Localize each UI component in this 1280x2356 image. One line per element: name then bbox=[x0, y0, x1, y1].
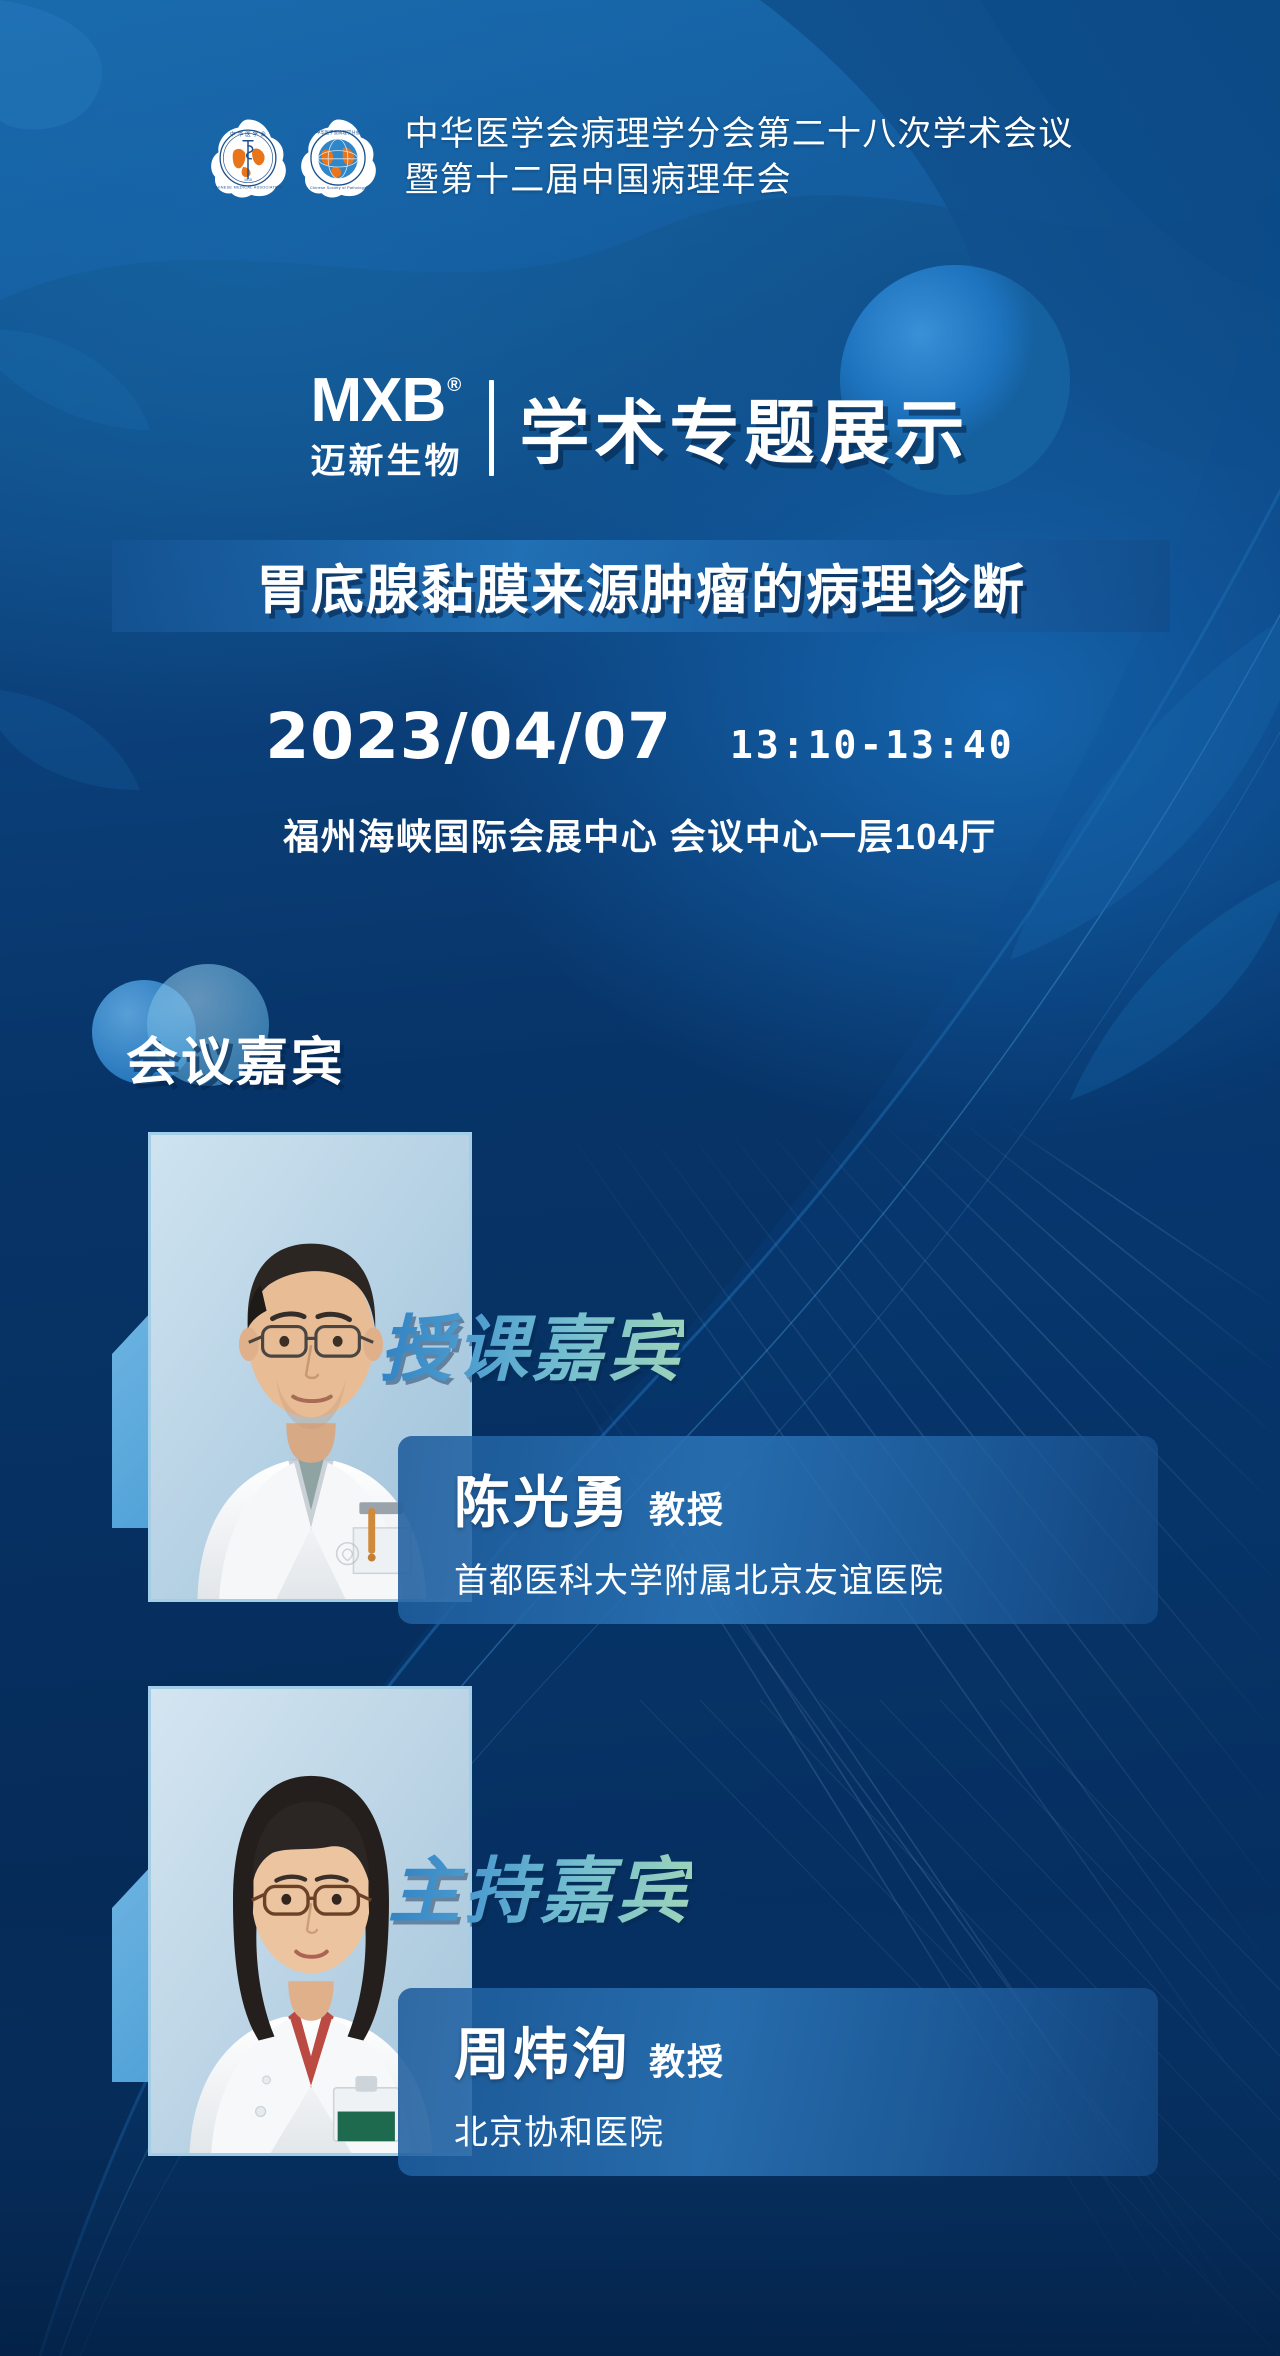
conference-title: 中华医学会病理学分会第二十八次学术会议 暨第十二届中国病理年会 bbox=[405, 112, 1074, 204]
poster-root: 中 华 医 学 会 CHINESE MEDICAL ASSOCIATION 19… bbox=[0, 0, 1280, 2356]
guests-section-heading: 会议嘉宾 bbox=[92, 962, 532, 1112]
mxb-wordmark: MXB ® bbox=[310, 372, 462, 431]
registered-trademark-icon: ® bbox=[447, 376, 460, 395]
brand-and-title-row: MXB ® 迈新生物 学术专题展示 bbox=[0, 372, 1280, 484]
mxb-chinese-name: 迈新生物 bbox=[310, 433, 462, 484]
speaker-1-academic-title: 教授 bbox=[649, 1481, 725, 1533]
speaker-1-name: 陈光勇 bbox=[454, 1458, 631, 1539]
page-title: 学术专题展示 bbox=[520, 377, 970, 478]
mxb-brand-logo: MXB ® 迈新生物 bbox=[310, 372, 488, 484]
speaker-2-info-panel: 周炜洵 教授 北京协和医院 bbox=[398, 1988, 1158, 2176]
svg-text:1915: 1915 bbox=[244, 178, 252, 182]
speaker-card-2: 主持嘉宾 周炜洵 教授 北京协和医院 bbox=[0, 1672, 1280, 2172]
speaker-1-info-panel: 陈光勇 教授 首都医科大学附属北京友谊医院 bbox=[398, 1436, 1158, 1624]
speaker-1-organization: 首都医科大学附属北京友谊医院 bbox=[454, 1553, 1158, 1602]
svg-text:CHINESE MEDICAL ASSOCIATION: CHINESE MEDICAL ASSOCIATION bbox=[213, 185, 283, 189]
mxb-mark-text: MXB bbox=[310, 372, 445, 431]
conference-title-line1: 中华医学会病理学分会第二十八次学术会议 bbox=[405, 112, 1074, 158]
lecture-subject-bar: 胃底腺黏膜来源肿瘤的病理诊断 bbox=[112, 540, 1170, 632]
event-time: 13:10-13:40 bbox=[730, 723, 1015, 767]
chinese-medical-association-logo: 中 华 医 学 会 CHINESE MEDICAL ASSOCIATION 19… bbox=[207, 116, 289, 200]
lecture-subject: 胃底腺黏膜来源肿瘤的病理诊断 bbox=[256, 548, 1026, 624]
speaker-2-organization: 北京协和医院 bbox=[454, 2105, 1158, 2154]
speaker-2-name: 周炜洵 bbox=[454, 2010, 631, 2091]
speaker-2-name-line: 周炜洵 教授 bbox=[454, 2010, 1158, 2091]
event-date: 2023/04/07 bbox=[265, 700, 672, 773]
chinese-society-of-pathology-logo: 中华医学会病理学分会 Chinese Society of Pathology bbox=[297, 116, 379, 200]
speaker-2-role: 主持嘉宾 bbox=[388, 1832, 692, 1937]
speaker-card-1: 授课嘉宾 陈光勇 教授 首都医科大学附属北京友谊医院 bbox=[0, 1118, 1280, 1618]
guests-heading-label: 会议嘉宾 bbox=[126, 1020, 346, 1095]
conference-title-line2: 暨第十二届中国病理年会 bbox=[405, 158, 1074, 204]
speaker-1-name-line: 陈光勇 教授 bbox=[454, 1458, 1158, 1539]
title-divider bbox=[489, 380, 494, 476]
svg-text:Chinese Society of Pathology: Chinese Society of Pathology bbox=[310, 186, 366, 190]
event-venue: 福州海峡国际会展中心 会议中心一层104厅 bbox=[0, 808, 1280, 860]
organizer-logos: 中 华 医 学 会 CHINESE MEDICAL ASSOCIATION 19… bbox=[207, 116, 379, 200]
svg-text:中 华 医 学 会: 中 华 医 学 会 bbox=[230, 130, 266, 138]
speaker-1-role: 授课嘉宾 bbox=[380, 1290, 684, 1395]
conference-header: 中 华 医 学 会 CHINESE MEDICAL ASSOCIATION 19… bbox=[0, 112, 1280, 204]
schedule-row: 2023/04/07 13:10-13:40 bbox=[0, 700, 1280, 773]
speaker-2-academic-title: 教授 bbox=[649, 2033, 725, 2085]
